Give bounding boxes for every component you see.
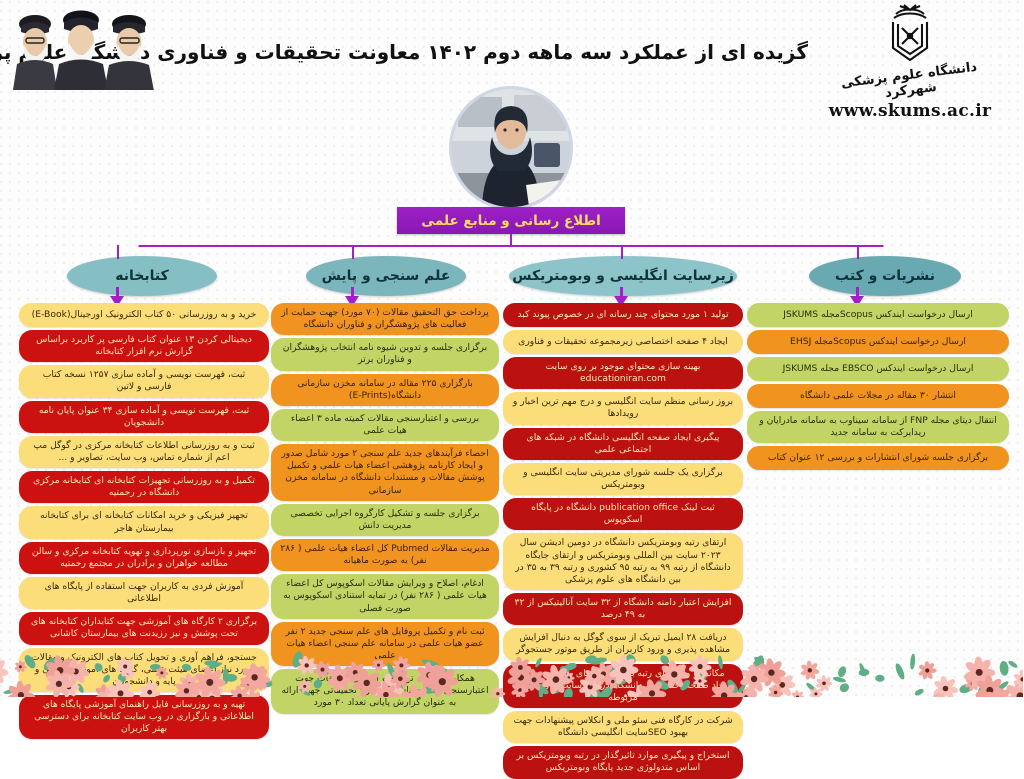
connector-drop-english-site-webometrics: [622, 245, 624, 259]
list-item[interactable]: برگزاری جلسه شورای انتشارات و بررسی ۱۲ ع…: [748, 446, 1010, 470]
list-item[interactable]: پرداخت حق التحقیق مقالات (۷۰ مورد) جهت ح…: [272, 303, 500, 335]
column-header-label: علم سنجی و پایش: [323, 268, 452, 284]
list-item[interactable]: پیگیری ایجاد صفحه انگلیسی دانشگاه در شبک…: [504, 428, 744, 460]
list-item[interactable]: دیجیتالی کردن ۱۳ عنوان کتاب فارسی پر کار…: [20, 330, 270, 362]
list-item[interactable]: بهینه سازی محتوای موجود بر روی سایت educ…: [504, 357, 744, 389]
top-bar: دانشگاه علوم پزشکی شهرکرد www.skums.ac.i…: [0, 0, 1024, 92]
list-item[interactable]: برگزاری جلسه و تدوین شیوه نامه انتخاب پژ…: [272, 338, 500, 370]
list-item[interactable]: انتقال دیتای مجله FNP از سامانه سیناوب ب…: [748, 411, 1010, 443]
section-header: اطلاع رسانی و منابع علمی: [398, 207, 626, 234]
list-item[interactable]: شرکت در کارگاه فنی سئو ملی و انکلاس پیشن…: [504, 711, 744, 743]
list-item[interactable]: ثبت و به روزرسانی اطلاعات کتابخانه مرکزی…: [20, 436, 270, 468]
column-header-library[interactable]: کتابخانه: [68, 256, 218, 296]
list-item[interactable]: مدیریت مقالات Pubmed کل اعضاء هیات علمی …: [272, 539, 500, 571]
list-item[interactable]: ارتقای رتبه وبومتریکس دانشگاه در دومین ا…: [504, 533, 744, 590]
column-header-label: نشریات و کتب: [836, 268, 936, 284]
floral-border-decoration: [0, 619, 1024, 697]
column-journals-books: ارسال درخواست ایندکس Scopusمجله JSKUMSار…: [748, 303, 1010, 470]
list-item[interactable]: ایجاد ۴ صفحه اختصاصی زیرمجموعه تحقیقات و…: [504, 330, 744, 354]
list-item[interactable]: بارگزاری ۲۲۵ مقاله در سامانه مخزن سازمان…: [272, 374, 500, 406]
list-item[interactable]: تکمیل و به روزرسانی تجهیزات کتابخانه ای …: [20, 471, 270, 503]
list-item[interactable]: ثبت لینک publication office دانشگاه در پ…: [504, 498, 744, 530]
deputy-portrait-photo: [450, 86, 574, 210]
list-item[interactable]: تجهیز و بازسازی نورپردازی و تهویه کتابخا…: [20, 542, 270, 574]
list-item[interactable]: ارسال درخواست ایندکس Scopusمجله EHSJ: [748, 330, 1010, 354]
list-item[interactable]: انتشار ۳۰ مقاله در مجلات علمی دانشگاه: [748, 384, 1010, 408]
connector-horizontal: [140, 245, 885, 247]
list-item[interactable]: ثبت، فهرست نویسی و آماده سازی ۱۲۵۷ نسخه …: [20, 365, 270, 397]
list-item[interactable]: برگزاری یک جلسه شورای مدیریتی سایت انگلی…: [504, 463, 744, 495]
list-item[interactable]: احصاء فرآیندهای جدید علم سنجی ۲ مورد شام…: [272, 444, 500, 501]
column-header-english-site-webometrics[interactable]: زیرسایت انگلیسی و وبومتریکس: [510, 256, 738, 296]
connector-drop-journals-books: [858, 245, 860, 259]
list-item[interactable]: ارسال درخواست ایندکس Scopusمجله JSKUMS: [748, 303, 1010, 327]
column-header-journals-books[interactable]: نشریات و کتب: [810, 256, 962, 296]
list-item[interactable]: استخراج و پیگیری موارد تاثیرگذار در رتبه…: [504, 746, 744, 778]
column-header-scientometrics[interactable]: علم سنجی و پایش: [307, 256, 467, 296]
list-item[interactable]: برگزاری جلسه و تشکیل کارگروه اجرایی تخصص…: [272, 504, 500, 536]
list-item[interactable]: ادغام، اصلاح و ویرایش مقالات اسکوپوس کل …: [272, 574, 500, 618]
column-header-label: زیرسایت انگلیسی و وبومتریکس: [513, 268, 735, 284]
column-header-label: کتابخانه: [116, 268, 169, 284]
list-item[interactable]: خرید و به روزرسانی ۵۰ کتاب الکترونیک اور…: [20, 303, 270, 327]
list-item[interactable]: بروز رسانی منظم سایت انگلیسی و درج مهم ت…: [504, 392, 744, 424]
list-item[interactable]: ثبت، فهرست نویسی و آماده سازی ۳۴ عنوان پ…: [20, 401, 270, 433]
list-item[interactable]: ارسال درخواست ایندکس EBSCO مجله JSKUMS: [748, 357, 1010, 381]
connector-drop-scientometrics: [353, 245, 355, 259]
column-english-site-webometrics: تولید ۱ مورد محتوای چند رسانه ای در خصوص…: [504, 303, 744, 779]
clerical-portraits-icon: [2, 2, 164, 90]
list-item[interactable]: تجهیز فیزیکی و خرید امکانات کتابخانه ای …: [20, 506, 270, 538]
list-item[interactable]: تولید ۱ مورد محتوای چند رسانه ای در خصوص…: [504, 303, 744, 327]
connector-drop-library: [118, 245, 120, 259]
list-item[interactable]: بررسی و اعتبارسنجی مقالات کمیته ماده ۳ ا…: [272, 409, 500, 441]
university-logo-block: دانشگاه علوم پزشکی شهرکرد www.skums.ac.i…: [816, 4, 1006, 121]
page-title: گزیده ای از عملکرد سه ماهه دوم ۱۴۰۲ معاو…: [175, 40, 809, 64]
skums-emblem-icon: [881, 4, 941, 66]
list-item[interactable]: تهیه و به روزرسانی فایل راهنمای آموزشی پ…: [20, 695, 270, 739]
list-item[interactable]: آموزش فردی به کاربران جهت استفاده از پای…: [20, 577, 270, 609]
